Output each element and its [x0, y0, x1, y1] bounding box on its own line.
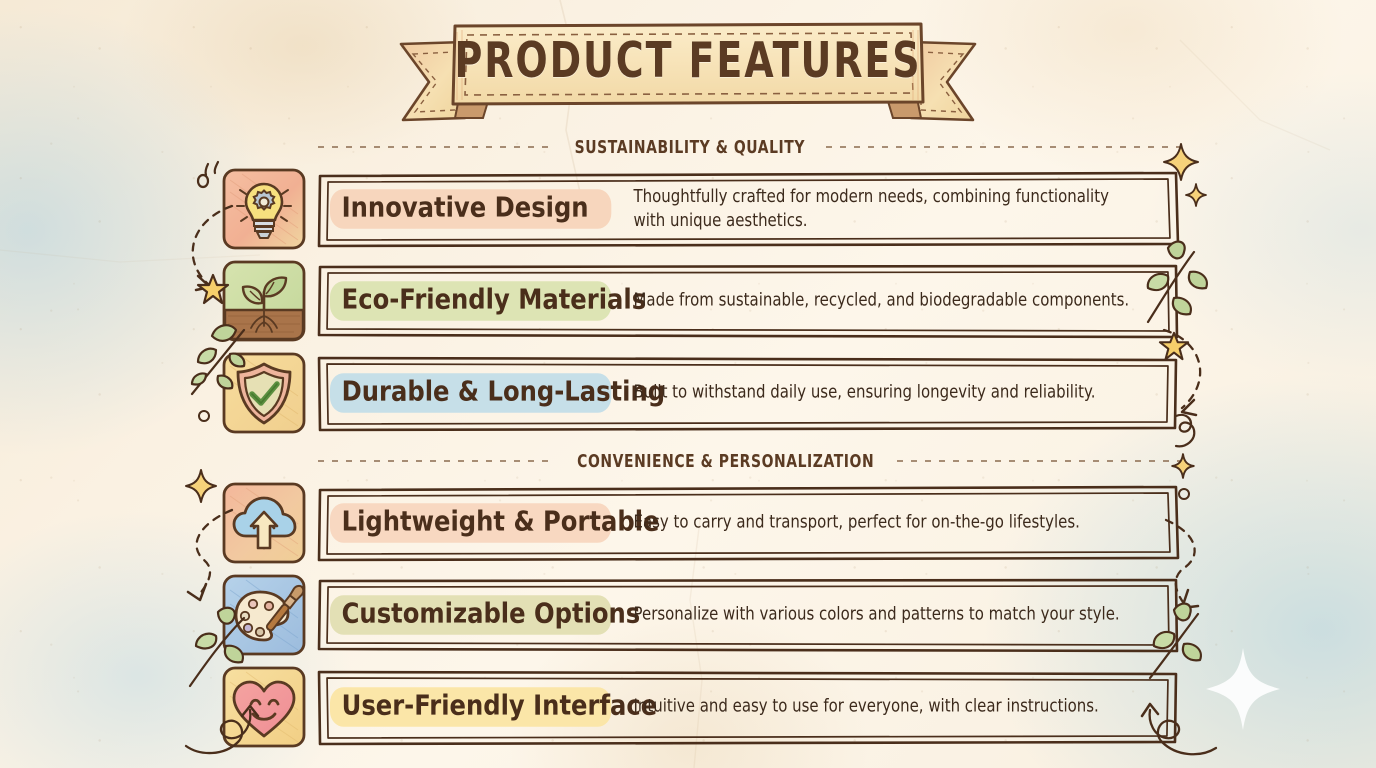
feature-title: Lightweight & Portable: [330, 503, 611, 543]
feature-card[interactable]: Lightweight & Portable Easy to carry and…: [316, 484, 1180, 562]
feature-row[interactable]: Durable & Long-Lasting Built to withstan…: [0, 348, 1376, 438]
divider-dash-left: [318, 146, 554, 148]
feature-card[interactable]: User-Friendly Interface Intuitive and ea…: [316, 668, 1180, 746]
feature-card[interactable]: Eco-Friendly Materials Made from sustain…: [316, 262, 1180, 340]
smiling-heart-icon: [220, 664, 308, 750]
divider-dash-right: [826, 146, 1180, 148]
section-label: SUSTAINABILITY & QUALITY: [575, 136, 805, 157]
feature-card[interactable]: Customizable Options Personalize with va…: [316, 576, 1180, 654]
feature-card[interactable]: Innovative Design Thoughtfully crafted f…: [316, 170, 1180, 248]
shield-check-icon: [220, 350, 308, 436]
feature-title: User-Friendly Interface: [330, 687, 611, 727]
feature-card[interactable]: Durable & Long-Lasting Built to withstan…: [316, 354, 1180, 432]
feature-description: Thoughtfully crafted for modern needs, c…: [620, 185, 1145, 233]
feature-description: Intuitive and easy to use for everyone, …: [620, 695, 1145, 719]
feature-description: Made from sustainable, recycled, and bio…: [620, 289, 1145, 313]
section-convenience-personalization: CONVENIENCE & PERSONALIZATION: [0, 444, 1376, 752]
lightbulb-gear-icon: [220, 166, 308, 252]
feature-description: Built to withstand daily use, ensuring l…: [620, 381, 1145, 405]
cloud-upload-icon: [220, 480, 308, 566]
features-content: SUSTAINABILITY & QUALITY: [0, 130, 1376, 754]
feature-row[interactable]: Customizable Options Personalize with va…: [0, 570, 1376, 660]
feature-title: Durable & Long-Lasting: [330, 373, 611, 413]
feature-row[interactable]: Eco-Friendly Materials Made from sustain…: [0, 256, 1376, 346]
seedling-plant-icon: [220, 258, 308, 344]
section-header: CONVENIENCE & PERSONALIZATION: [0, 444, 1376, 478]
page-title: PRODUCT FEATURES: [34, 33, 1341, 89]
palette-brush-icon: [220, 572, 308, 658]
feature-row[interactable]: Innovative Design Thoughtfully crafted f…: [0, 164, 1376, 254]
feature-description: Easy to carry and transport, perfect for…: [620, 511, 1145, 535]
divider-dash-left: [318, 460, 554, 462]
section-label: CONVENIENCE & PERSONALIZATION: [577, 450, 874, 471]
feature-title: Customizable Options: [330, 595, 611, 635]
section-header: SUSTAINABILITY & QUALITY: [0, 130, 1376, 164]
feature-title: Innovative Design: [330, 189, 611, 229]
feature-description: Personalize with various colors and patt…: [620, 603, 1145, 627]
feature-title: Eco-Friendly Materials: [330, 281, 611, 321]
divider-dash-right: [897, 460, 1180, 462]
section-sustainability-quality: SUSTAINABILITY & QUALITY: [0, 130, 1376, 438]
feature-row[interactable]: User-Friendly Interface Intuitive and ea…: [0, 662, 1376, 752]
feature-row[interactable]: Lightweight & Portable Easy to carry and…: [0, 478, 1376, 568]
